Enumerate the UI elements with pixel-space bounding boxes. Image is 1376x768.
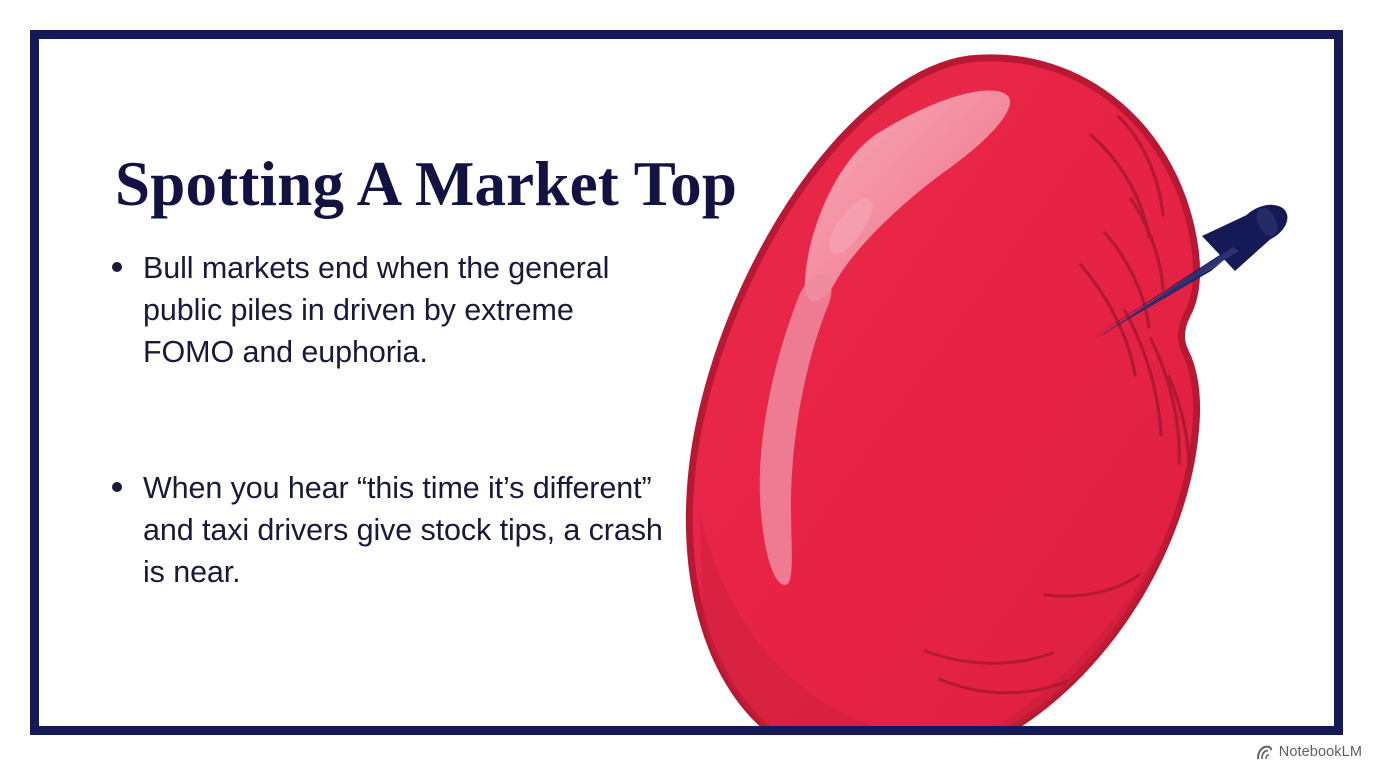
slide-canvas: Spotting A Market Top Bull markets end w… (0, 0, 1376, 768)
watermark-label: NotebookLM (1279, 744, 1362, 760)
balloon-shape (689, 58, 1260, 735)
bullet-dot-icon (112, 262, 122, 272)
list-item: When you hear “this time it’s different”… (107, 467, 667, 593)
list-item-label: Bull markets end when the general public… (143, 247, 667, 373)
notebooklm-watermark: NotebookLM (1256, 744, 1362, 760)
list-item-label: When you hear “this time it’s different”… (143, 467, 667, 593)
list-item: Bull markets end when the general public… (107, 247, 667, 373)
balloon-and-nail-illustration (639, 39, 1343, 735)
bullet-dot-icon (112, 482, 122, 492)
bullet-list: Bull markets end when the general public… (107, 247, 667, 593)
slide-frame-border: Spotting A Market Top Bull markets end w… (30, 30, 1343, 735)
notebooklm-logo-icon (1256, 745, 1273, 760)
